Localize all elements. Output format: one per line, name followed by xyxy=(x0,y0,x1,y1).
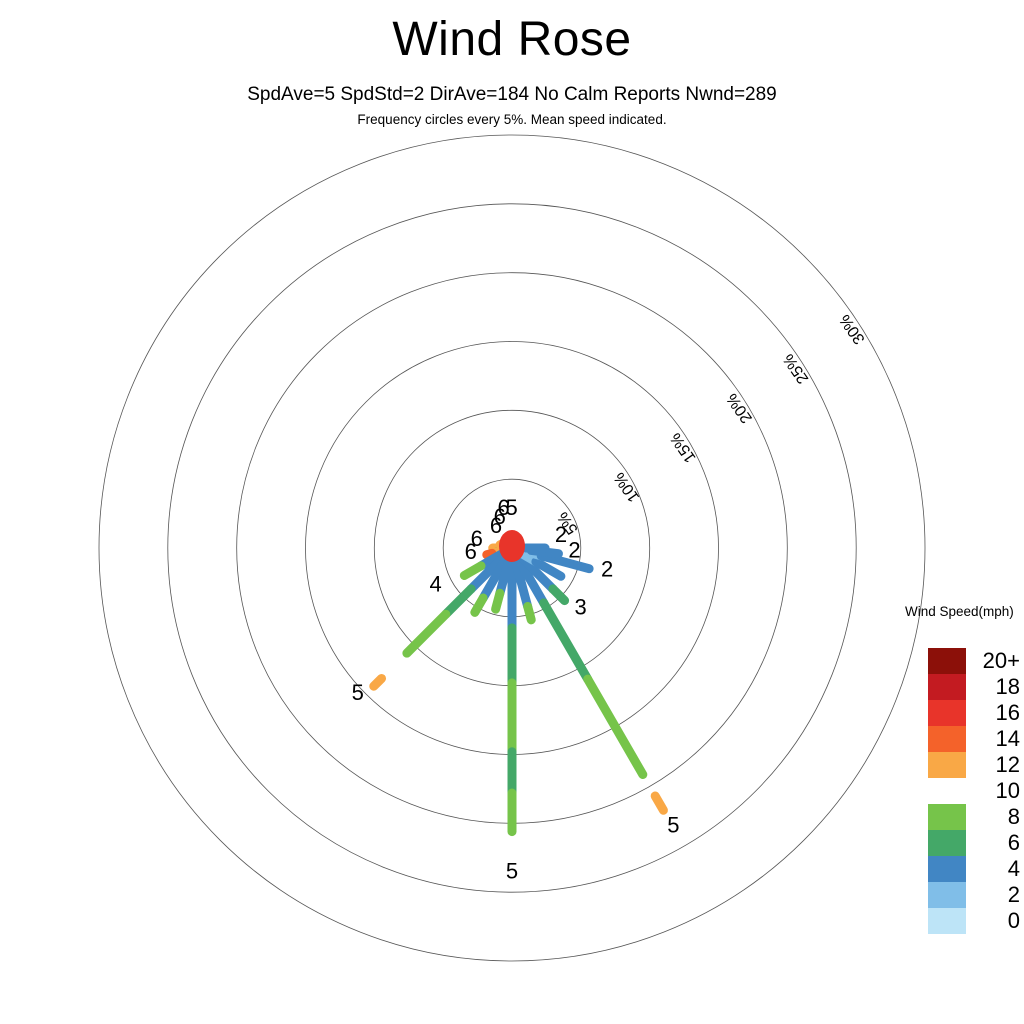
petal-segment xyxy=(407,614,446,653)
legend-label: 6 xyxy=(966,830,1020,856)
legend-swatch xyxy=(928,882,966,908)
petal-segment xyxy=(528,607,532,620)
petal-mean-speed-label: 5 xyxy=(352,680,364,705)
petal-mean-speed-label: 2 xyxy=(601,557,613,582)
legend-row: 14 xyxy=(928,726,1020,752)
petal-mean-speed-label: 2 xyxy=(555,522,567,547)
petal-segment xyxy=(496,593,500,609)
ring-label: 20% xyxy=(724,390,756,426)
legend-swatch xyxy=(928,908,966,934)
petal-segment xyxy=(553,589,565,601)
legend-row: 10 xyxy=(928,778,1020,804)
legend-label: 14 xyxy=(966,726,1020,752)
legend-swatch xyxy=(928,674,966,700)
legend-swatch xyxy=(928,726,966,752)
legend-row: 18 xyxy=(928,674,1020,700)
petal-segment xyxy=(487,553,492,554)
wind-rose-chart: Wind Rose SpdAve=5 SpdStd=2 DirAve=184 N… xyxy=(0,0,1024,1024)
legend-label: 2 xyxy=(966,882,1020,908)
legend-swatch xyxy=(928,804,966,830)
legend-swatch xyxy=(928,830,966,856)
legend-swatch xyxy=(928,752,966,778)
ring-label: 30% xyxy=(836,311,868,347)
petal-segment xyxy=(655,796,663,810)
legend-row: 12 xyxy=(928,752,1020,778)
petal-mean-speed-label: 6 xyxy=(465,539,477,564)
legend-row: 16 xyxy=(928,700,1020,726)
petal-segment xyxy=(588,679,643,774)
legend-label: 8 xyxy=(966,804,1020,830)
ring-labels: 5%10%15%20%25%30% xyxy=(554,311,868,537)
petal-segment xyxy=(374,678,382,686)
legend-row: 6 xyxy=(928,830,1020,856)
petal-mean-speed-label: 5 xyxy=(505,495,517,520)
ring-label: 10% xyxy=(611,469,643,505)
petal-mean-speed-label: 4 xyxy=(429,572,441,597)
legend-row: 20+ xyxy=(928,648,1020,674)
legend-row: 2 xyxy=(928,882,1020,908)
legend-label: 12 xyxy=(966,752,1020,778)
legend-label: 4 xyxy=(966,856,1020,882)
legend-swatch xyxy=(928,648,966,674)
petal-mean-speed-label: 5 xyxy=(506,858,518,883)
ring-label: 15% xyxy=(667,430,699,466)
legend-row: 4 xyxy=(928,856,1020,882)
legend-row: 8 xyxy=(928,804,1020,830)
legend-label: 18 xyxy=(966,674,1020,700)
legend-swatch xyxy=(928,778,966,804)
legend-swatch xyxy=(928,700,966,726)
ring-label: 25% xyxy=(780,351,812,387)
petal: 5 xyxy=(506,548,518,883)
petal-mean-speed-label: 2 xyxy=(568,538,580,563)
center-blob xyxy=(499,530,525,562)
petal-segment xyxy=(464,566,481,576)
petal-segment xyxy=(446,589,471,614)
petal-segment xyxy=(382,653,407,678)
legend-swatch xyxy=(928,856,966,882)
legend-label: 0 xyxy=(966,908,1020,934)
legend: 20+181614121086420 xyxy=(928,648,1020,934)
legend-title: Wind Speed(mph) xyxy=(905,604,1014,619)
petal-mean-speed-label: 5 xyxy=(667,812,679,837)
legend-label: 20+ xyxy=(966,648,1020,674)
petal-mean-speed-label: 3 xyxy=(574,595,586,620)
legend-row: 0 xyxy=(928,908,1020,934)
petal: 5 xyxy=(512,548,680,837)
legend-label: 10 xyxy=(966,778,1020,804)
legend-label: 16 xyxy=(966,700,1020,726)
wind-rose-plot: 5%10%15%20%25%30%66455532226665 xyxy=(0,0,1024,1024)
